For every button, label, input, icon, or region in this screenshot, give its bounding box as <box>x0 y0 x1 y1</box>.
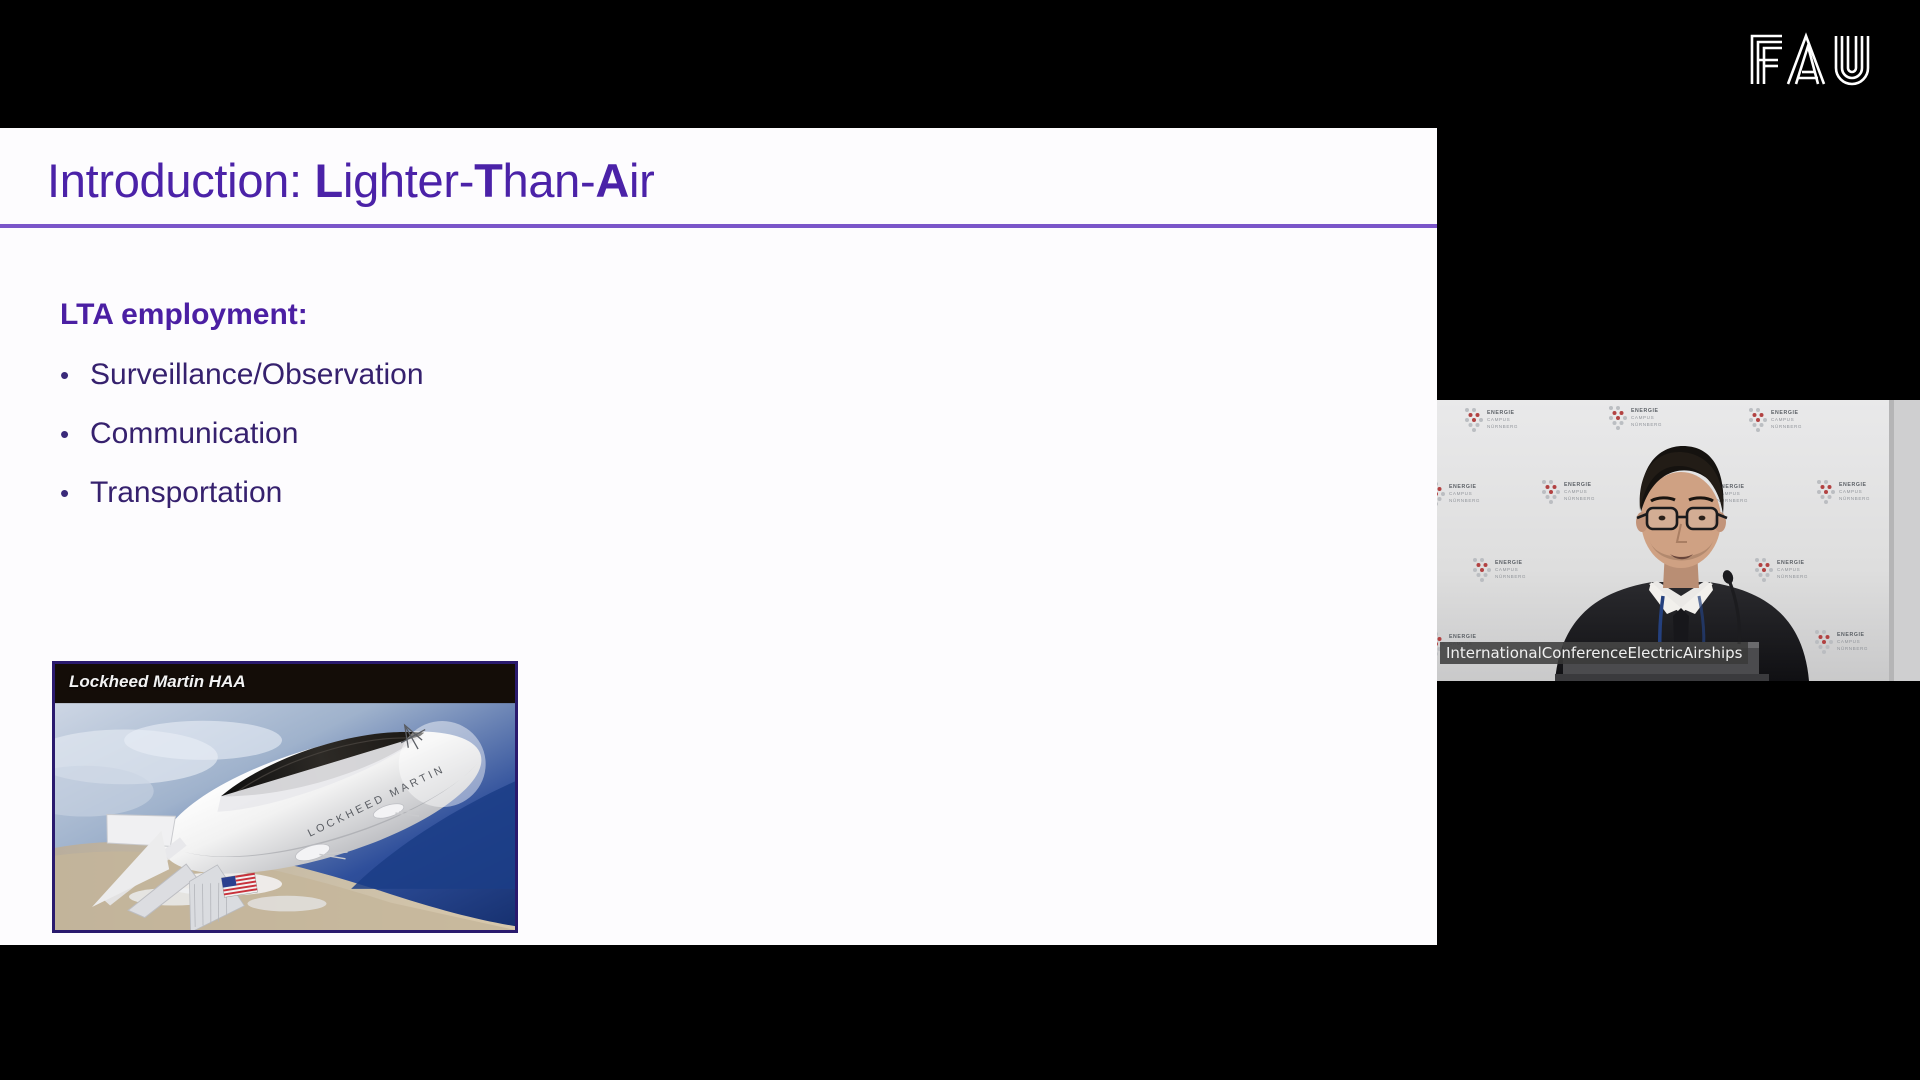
title-letter-l: L <box>315 154 343 207</box>
bullet-label: Transportation <box>90 476 282 510</box>
bullet-marker-icon: • <box>60 362 90 388</box>
bullet-label: Surveillance/Observation <box>90 358 424 392</box>
fau-logo-icon <box>1744 30 1892 88</box>
title-prefix: Introduction: <box>47 154 315 207</box>
list-item: • Surveillance/Observation <box>60 358 860 392</box>
figure-caption: Lockheed Martin HAA <box>69 672 246 692</box>
list-item: • Communication <box>60 417 860 451</box>
title-igther: ighter- <box>343 154 474 207</box>
title-letter-t: T <box>474 154 502 207</box>
video-caption-label: InternationalConferenceElectricAirships <box>1440 642 1748 664</box>
bullet-list: • Surveillance/Observation • Communicati… <box>60 358 860 535</box>
list-item: • Transportation <box>60 476 860 510</box>
slide-canvas: Introduction: Lighter-Than-Air LTA emplo… <box>0 128 1437 945</box>
title-ir: ir <box>629 154 655 207</box>
speaker-video-feed[interactable]: ENERGIE CAMPUS NÜRNBERG <box>1437 400 1920 681</box>
title-han: han- <box>503 154 596 207</box>
slide-title: Introduction: Lighter-Than-Air <box>47 153 655 208</box>
title-underline-rule <box>0 224 1437 228</box>
section-heading: LTA employment: <box>60 298 308 332</box>
bullet-label: Communication <box>90 417 298 451</box>
airship-figure: LOCKHEED MARTIN Lockheed Martin HAA <box>52 661 518 933</box>
title-letter-a: A <box>595 154 629 207</box>
bullet-marker-icon: • <box>60 421 90 447</box>
presentation-screen: Introduction: Lighter-Than-Air LTA emplo… <box>0 0 1920 1080</box>
bullet-marker-icon: • <box>60 480 90 506</box>
